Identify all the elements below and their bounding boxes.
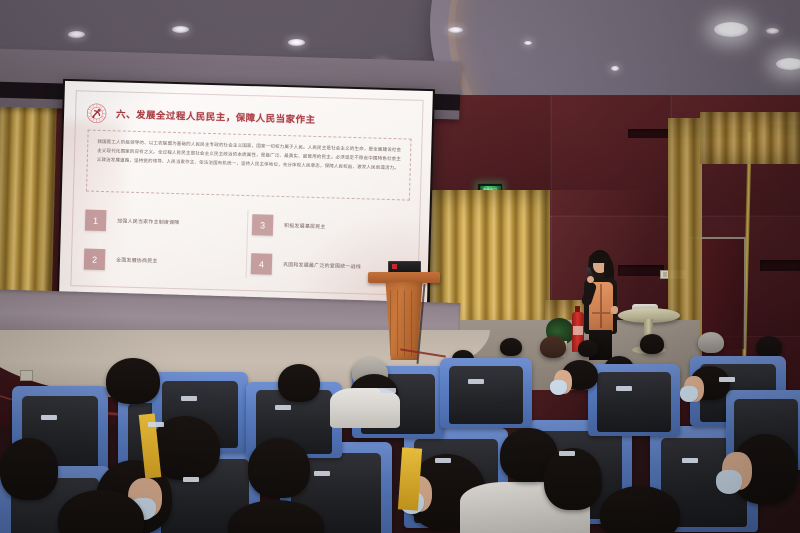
audience-area: [0, 330, 800, 533]
slide-point-text: 巩固和发展最广泛的爱国统一战线: [283, 261, 361, 270]
ceiling-downlight: [288, 39, 305, 46]
slide-point: 3积极发展基层民主: [252, 206, 410, 247]
auditorium-seat[interactable]: [588, 364, 680, 436]
seat-number-tag: [275, 405, 291, 410]
slide-point-text: 全面发展协商民主: [116, 256, 158, 264]
ceiling-downlight: [68, 31, 85, 38]
slide-point-number: 3: [252, 214, 274, 236]
slide-point: 1加强人民当家作主制度保障: [85, 202, 243, 243]
slide-title: 六、发展全过程人民民主，保障人民当家作主: [116, 106, 316, 126]
presenter-vest-pocket: [602, 312, 610, 314]
seat-number-tag: [41, 415, 57, 420]
seat-number-tag: [468, 379, 484, 384]
audience-head: [500, 338, 522, 356]
presenter-vest-seam: [600, 284, 602, 328]
slide-point: 2全面发展协商民主: [84, 241, 242, 282]
ceiling-downlight: [172, 26, 189, 33]
auditorium-seat[interactable]: [440, 358, 532, 428]
slide-point-text: 加强人民当家作主制度保障: [117, 217, 180, 226]
ceiling-downlight: [448, 27, 463, 33]
lecture-hall-scene: 安全出口: [0, 0, 800, 533]
audience-head: [756, 336, 782, 358]
seat-number-tag: [682, 458, 698, 463]
podium-top-surface: [368, 272, 440, 283]
ceiling-downlight: [766, 28, 779, 34]
wall-acoustic-slot: [760, 260, 800, 271]
presenter-vest-pocket: [592, 312, 600, 314]
seat-number-tag: [380, 388, 396, 393]
presenter-hand-lower: [611, 306, 618, 314]
audience-head: [578, 340, 598, 357]
audience-head: [540, 336, 566, 358]
slide-point-number: 1: [85, 210, 107, 232]
slide-points-grid: 1加强人民当家作主制度保障3积极发展基层民主2全面发展协商民主4巩固和发展最广泛…: [84, 202, 410, 287]
presenter-hand: [587, 276, 594, 283]
curtain-upper-right: [700, 112, 800, 164]
audience-head: [544, 448, 602, 510]
audience-shoulders: [330, 388, 400, 428]
audience-head: [106, 358, 160, 404]
slide-paragraph: 我国是工人阶级领导的、以工农联盟为基础的人民民主专政的社会主义国家，国家一切权力…: [97, 138, 402, 173]
seat-number-tag: [314, 471, 330, 476]
audience-head: [640, 334, 664, 354]
seat-number-tag: [616, 386, 632, 391]
slide-point-text: 积极发展基层民主: [284, 222, 326, 230]
cpc-party-emblem-icon: [86, 102, 108, 124]
seat-number-tag: [181, 396, 197, 401]
ceiling-downlight: [776, 58, 800, 70]
seat-number-tag: [559, 451, 575, 456]
audience-head: [0, 438, 58, 500]
seat-number-tag: [719, 377, 735, 382]
seat-number-tag: [183, 477, 199, 482]
face-mask: [716, 470, 742, 494]
face-mask: [550, 380, 567, 395]
audience-head: [698, 332, 724, 353]
ceiling-downlight: [611, 66, 619, 71]
slide-point-number: 4: [251, 253, 273, 275]
seat-number-tag: [435, 458, 451, 463]
laptop-logo-icon: [392, 264, 397, 269]
audience-head: [248, 438, 310, 498]
ceiling-downlight: [714, 22, 748, 37]
audience-head: [278, 364, 320, 402]
audience-head: [600, 486, 680, 533]
projection-screen[interactable]: 六、发展全过程人民民主，保障人民当家作主 我国是工人阶级领导的、以工农联盟为基础…: [59, 81, 433, 303]
face-mask: [680, 386, 698, 402]
seat-number-tag: [148, 422, 164, 427]
slide-body-box: 我国是工人阶级领导的、以工农联盟为基础的人民民主专政的社会主义国家，国家一切权力…: [86, 130, 412, 201]
ceiling-downlight: [524, 41, 532, 45]
slide-point-number: 2: [84, 249, 106, 271]
